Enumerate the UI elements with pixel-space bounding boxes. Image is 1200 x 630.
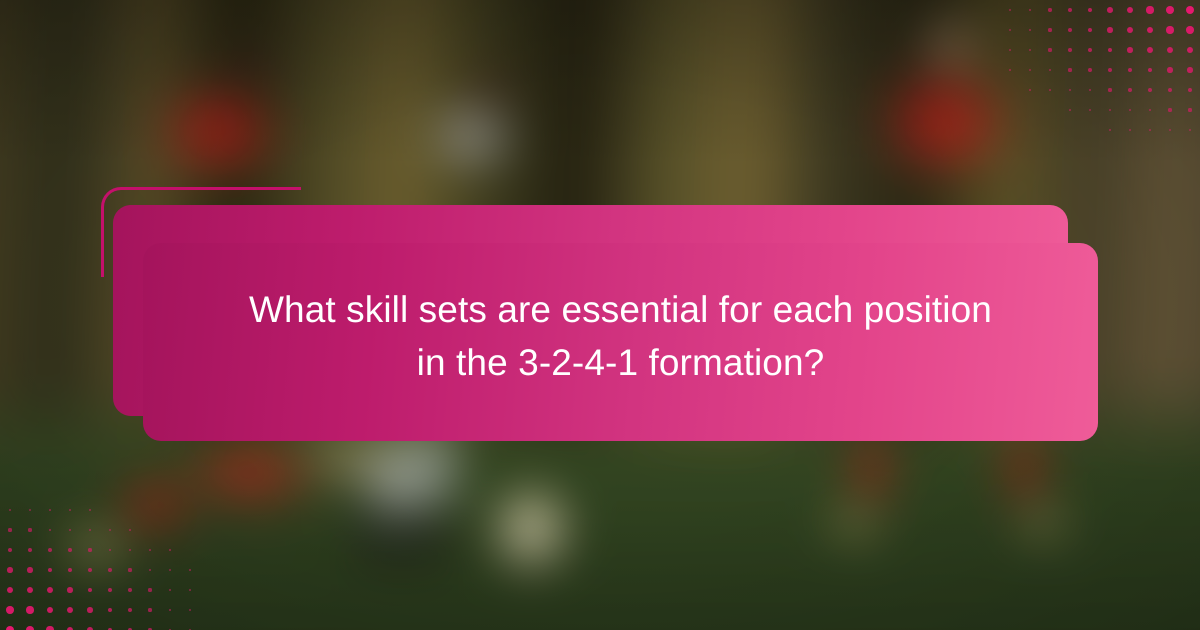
quote-line-1: What skill sets are essential for each p…	[249, 289, 992, 330]
quote-card-text-layer: What skill sets are essential for each p…	[143, 243, 1098, 441]
quote-line-2: in the 3-2-4-1 formation?	[417, 342, 825, 383]
screenshot-canvas: What skill sets are essential for each p…	[0, 0, 1200, 630]
quote-text-block: What skill sets are essential for each p…	[143, 237, 1098, 435]
